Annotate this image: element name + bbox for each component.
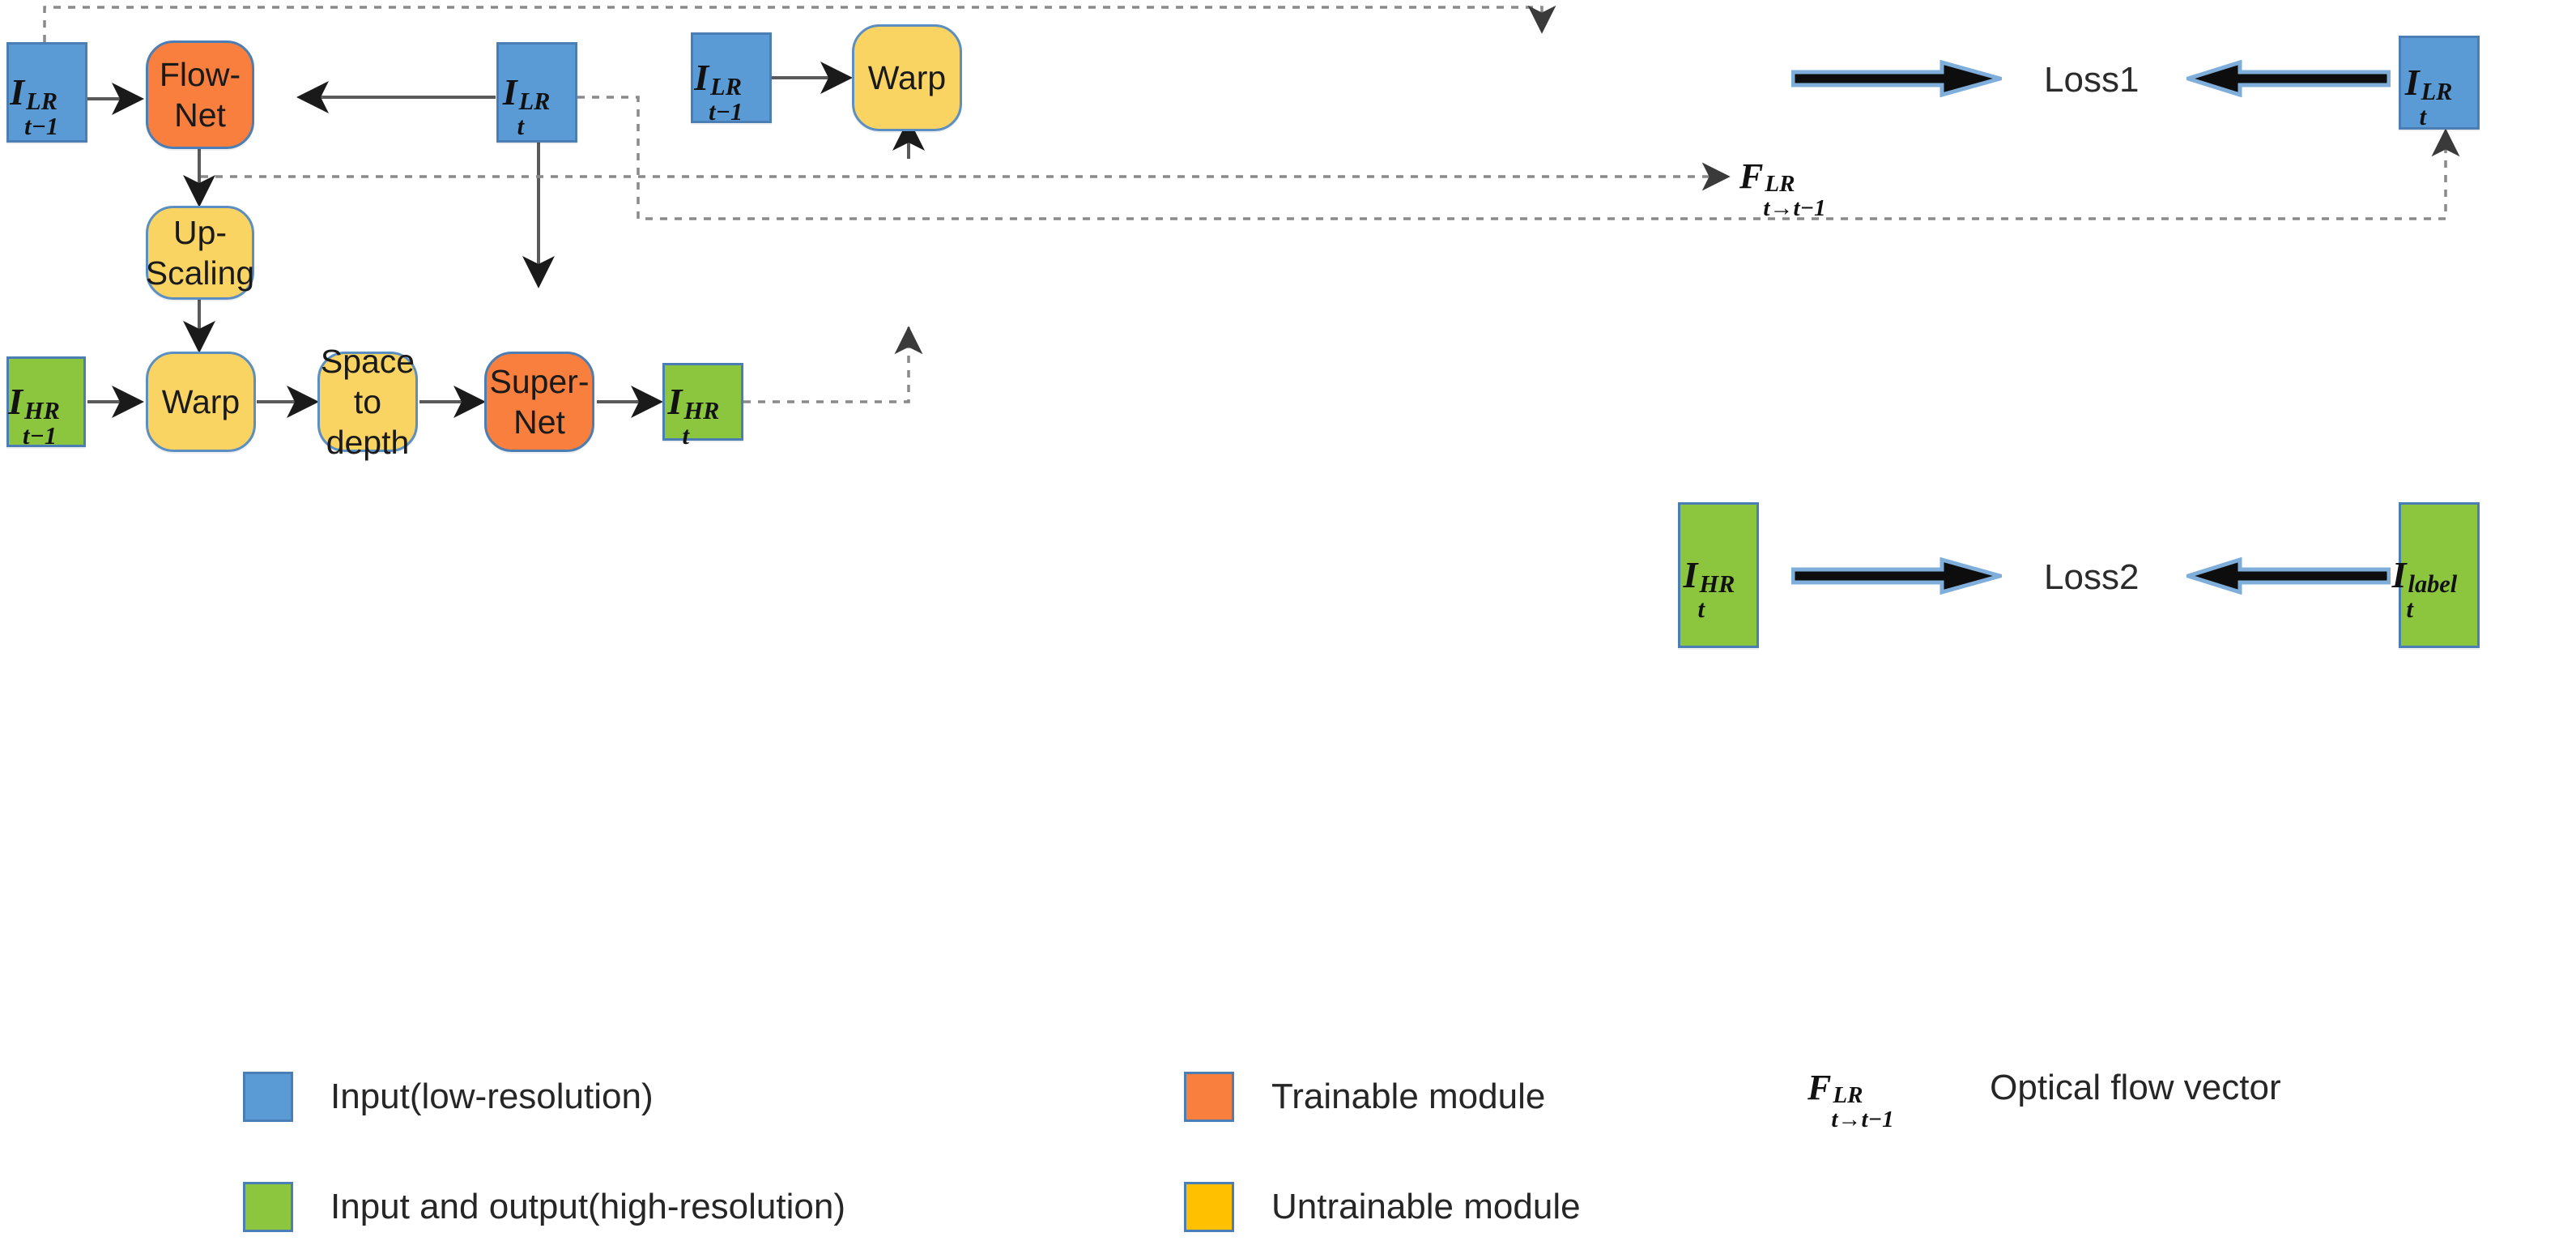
math-base: I — [694, 57, 709, 98]
loss1-label: Loss1 — [2044, 60, 2139, 100]
math-base: I — [8, 381, 23, 422]
warp-bottom-label: Warp — [162, 382, 240, 422]
space-to-depth-label: Spacetodepth — [321, 341, 415, 463]
math-label-hr-t-out: IHRt — [668, 379, 739, 424]
math-base: I — [2392, 554, 2407, 595]
legend-label-untrainable-module: Untrainable module — [1271, 1187, 1581, 1227]
math-label-lr-t-center: ILRt — [503, 70, 572, 115]
thick-arrow-lrt-to-loss1 — [2186, 60, 2391, 97]
math-superscript: HR — [683, 396, 719, 426]
math-subscript: t−1 — [24, 112, 58, 142]
math-subscript: t — [2420, 102, 2426, 132]
legend-swatch-input-low-resolution — [243, 1072, 293, 1122]
super-net-label-line2: Net — [513, 403, 565, 441]
node-hr-t-loss2[interactable]: IHRt — [1678, 502, 1759, 648]
legend-item-input-output-high-resolution: Input and output(high-resolution) — [243, 1182, 845, 1232]
math-subscript: t−1 — [23, 421, 57, 451]
legend-item-optical-flow-vector: FLRt→t−1 Optical flow vector — [1807, 1067, 2281, 1108]
node-warp-top[interactable]: Warp — [852, 24, 962, 131]
flow-net-label-line1: Flow- — [160, 56, 241, 93]
thick-arrow-warp-to-loss1 — [1791, 60, 2002, 97]
math-label-hr-prev: IHRt−1 — [8, 379, 84, 424]
node-input-lr-t-right[interactable]: ILRt — [2399, 36, 2480, 130]
legend: Input(low-resolution) Input and output(h… — [0, 1017, 2576, 1241]
dashed-lrprev-left-to-lrprev-right — [45, 7, 1542, 42]
math-label-lr-prev-left: ILRt−1 — [10, 70, 84, 115]
legend-label-input-low-resolution: Input(low-resolution) — [330, 1077, 654, 1117]
math-subscript: t — [1697, 595, 1704, 625]
legend-swatch-untrainable-module — [1184, 1182, 1234, 1232]
node-input-lr-t-center[interactable]: ILRt — [496, 42, 577, 143]
warp-top-label: Warp — [868, 58, 946, 98]
math-label-hr-t-loss2: IHRt — [1684, 552, 1754, 598]
legend-swatch-input-output-high-resolution — [243, 1182, 293, 1232]
dashed-hrt-out-to-hrt-loss2 — [743, 327, 909, 402]
space-to-depth-label-line1: Space — [321, 343, 415, 380]
flow-net-label: Flow-Net — [160, 54, 241, 135]
math-superscript: label — [2408, 569, 2458, 599]
node-flow-net[interactable]: Flow-Net — [146, 41, 254, 149]
math-superscript: LR — [1833, 1082, 1863, 1109]
space-to-depth-label-line2: to — [354, 383, 381, 420]
node-super-net[interactable]: Super-Net — [484, 352, 594, 452]
flow-net-label-line2: Net — [174, 96, 226, 134]
math-subscript: t−1 — [709, 97, 743, 127]
math-subscript: t — [2407, 595, 2413, 625]
legend-item-trainable-module: Trainable module — [1184, 1072, 1545, 1122]
math-subscript: t — [682, 421, 688, 451]
math-base: F — [1807, 1068, 1831, 1107]
loss2-label: Loss2 — [2044, 557, 2139, 598]
super-net-label: Super-Net — [489, 361, 589, 442]
up-scaling-label: Up-Scaling — [146, 212, 254, 293]
node-space-to-depth[interactable]: Spacetodepth — [317, 352, 418, 452]
math-label-lr-prev-right: ILRt−1 — [694, 55, 769, 100]
optical-flow-vector-label: FLRt→t−1 — [1739, 156, 1886, 197]
math-base: I — [503, 71, 517, 113]
thick-arrow-label-to-loss2 — [2186, 557, 2391, 595]
up-scaling-label-line2: Scaling — [146, 254, 254, 292]
node-output-hr-t[interactable]: IHRt — [662, 363, 743, 441]
math-subscript: t→t−1 — [1763, 195, 1825, 222]
node-input-hr-prev[interactable]: IHRt−1 — [6, 356, 86, 447]
legend-item-untrainable-module: Untrainable module — [1184, 1182, 1581, 1232]
node-input-lr-prev-right[interactable]: ILRt−1 — [691, 32, 772, 123]
legend-item-input-low-resolution: Input(low-resolution) — [243, 1072, 654, 1122]
math-base: I — [10, 71, 24, 113]
node-warp-bottom[interactable]: Warp — [146, 352, 256, 452]
math-subscript: t→t−1 — [1831, 1107, 1893, 1133]
legend-swatch-trainable-module — [1184, 1072, 1234, 1122]
legend-label-optical-flow-vector: Optical flow vector — [1990, 1068, 2280, 1108]
up-scaling-label-line1: Up- — [173, 214, 227, 251]
node-input-lr-prev-left[interactable]: ILRt−1 — [6, 42, 87, 143]
diagram-canvas: ILRt−1 Flow-Net ILRt ILRt−1 Warp ILRt Up… — [0, 0, 2576, 1241]
math-subscript: t — [517, 112, 524, 142]
math-base: I — [2405, 62, 2420, 103]
math-superscript: LR — [1765, 171, 1795, 198]
math-base: I — [1684, 554, 1698, 595]
node-label-hr-t[interactable]: Ilabelt — [2399, 502, 2480, 648]
math-label-lr-t-right: ILRt — [2405, 60, 2474, 105]
math-base: F — [1739, 156, 1763, 196]
legend-symbol-optical-flow-vector: FLRt→t−1 — [1807, 1067, 1954, 1108]
node-up-scaling[interactable]: Up-Scaling — [146, 206, 254, 300]
space-to-depth-label-line3: depth — [326, 424, 410, 461]
thick-arrow-hrt-to-loss2 — [1791, 557, 2002, 595]
legend-label-input-output-high-resolution: Input and output(high-resolution) — [330, 1187, 845, 1227]
math-base: I — [668, 381, 683, 422]
super-net-label-line1: Super- — [489, 363, 589, 400]
math-superscript: HR — [1699, 569, 1735, 599]
math-label-label-t: Ilabelt — [2392, 552, 2487, 598]
legend-label-trainable-module: Trainable module — [1271, 1077, 1545, 1117]
